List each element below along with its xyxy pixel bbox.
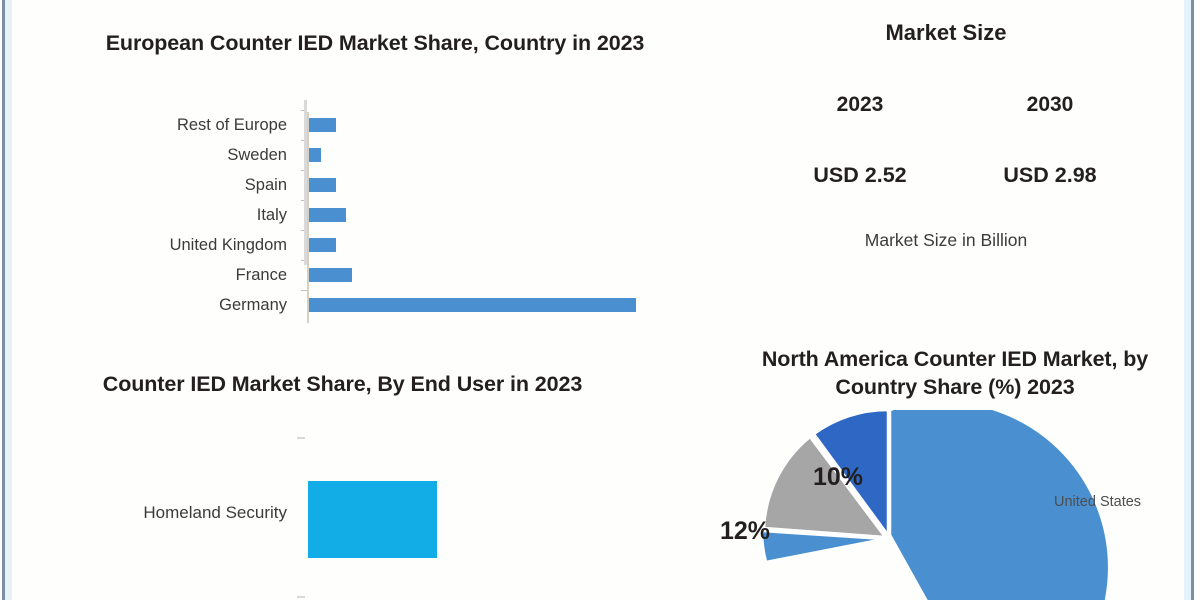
market-size-value-2023: USD 2.52 [760, 163, 960, 188]
pie-label-12-percent: 12% [720, 517, 770, 546]
european-bar-row: Spain [0, 170, 690, 200]
european-bar-row: Italy [0, 200, 690, 230]
european-bar [309, 148, 321, 162]
european-category-label: Italy [0, 200, 287, 230]
european-bar [309, 298, 636, 312]
european-bar [309, 208, 346, 222]
european-category-label: Sweden [0, 140, 287, 170]
european-category-label: Rest of Europe [0, 110, 287, 140]
european-category-label: United Kingdom [0, 230, 287, 260]
european-market-share-chart: European Counter IED Market Share, Count… [0, 0, 690, 335]
pie-chart-title: North America Counter IED Market, by Cou… [735, 346, 1175, 402]
market-size-year-2030: 2030 [950, 93, 1150, 117]
end-user-category-label-homeland-security: Homeland Security [0, 503, 287, 523]
market-size-panel: Market Size 2023 USD 2.52 2030 USD 2.98 … [700, 0, 1192, 300]
european-bar [309, 118, 336, 132]
market-size-year-2023: 2023 [760, 93, 960, 117]
end-user-market-share-chart: Counter IED Market Share, By End User in… [0, 335, 690, 600]
european-chart-plot-area: Rest of EuropeSwedenSpainItalyUnited Kin… [0, 110, 690, 325]
european-chart-title: European Counter IED Market Share, Count… [95, 30, 655, 58]
european-category-label: Spain [0, 170, 287, 200]
pie-label-10-percent: 10% [813, 463, 863, 492]
north-america-country-share-pie: North America Counter IED Market, by Cou… [700, 310, 1192, 600]
european-bar-row: Rest of Europe [0, 110, 690, 140]
european-category-label: Germany [0, 290, 287, 320]
end-user-axis-tick-top [297, 437, 305, 439]
market-size-unit-note: Market Size in Billion [700, 230, 1192, 251]
market-size-heading: Market Size [700, 20, 1192, 46]
legend-swatch-united-states [1038, 498, 1047, 507]
market-size-value-2030: USD 2.98 [950, 163, 1150, 188]
end-user-bar-homeland-security [308, 481, 437, 558]
end-user-chart-category-axis [304, 100, 307, 265]
legend-label-united-states: United States [1054, 494, 1141, 510]
european-bar [309, 268, 352, 282]
european-bar-row: United Kingdom [0, 230, 690, 260]
pie-legend: United States [1038, 494, 1141, 510]
european-bar-row: France [0, 260, 690, 290]
european-bar [309, 238, 336, 252]
european-bar-row: Sweden [0, 140, 690, 170]
end-user-axis-tick-bottom [297, 596, 305, 598]
european-bar [309, 178, 336, 192]
european-category-label: France [0, 260, 287, 290]
end-user-chart-title: Counter IED Market Share, By End User in… [70, 371, 615, 399]
european-axis-tick [301, 290, 307, 291]
european-bar-row: Germany [0, 290, 690, 320]
infographic-page: European Counter IED Market Share, Count… [0, 0, 1200, 600]
